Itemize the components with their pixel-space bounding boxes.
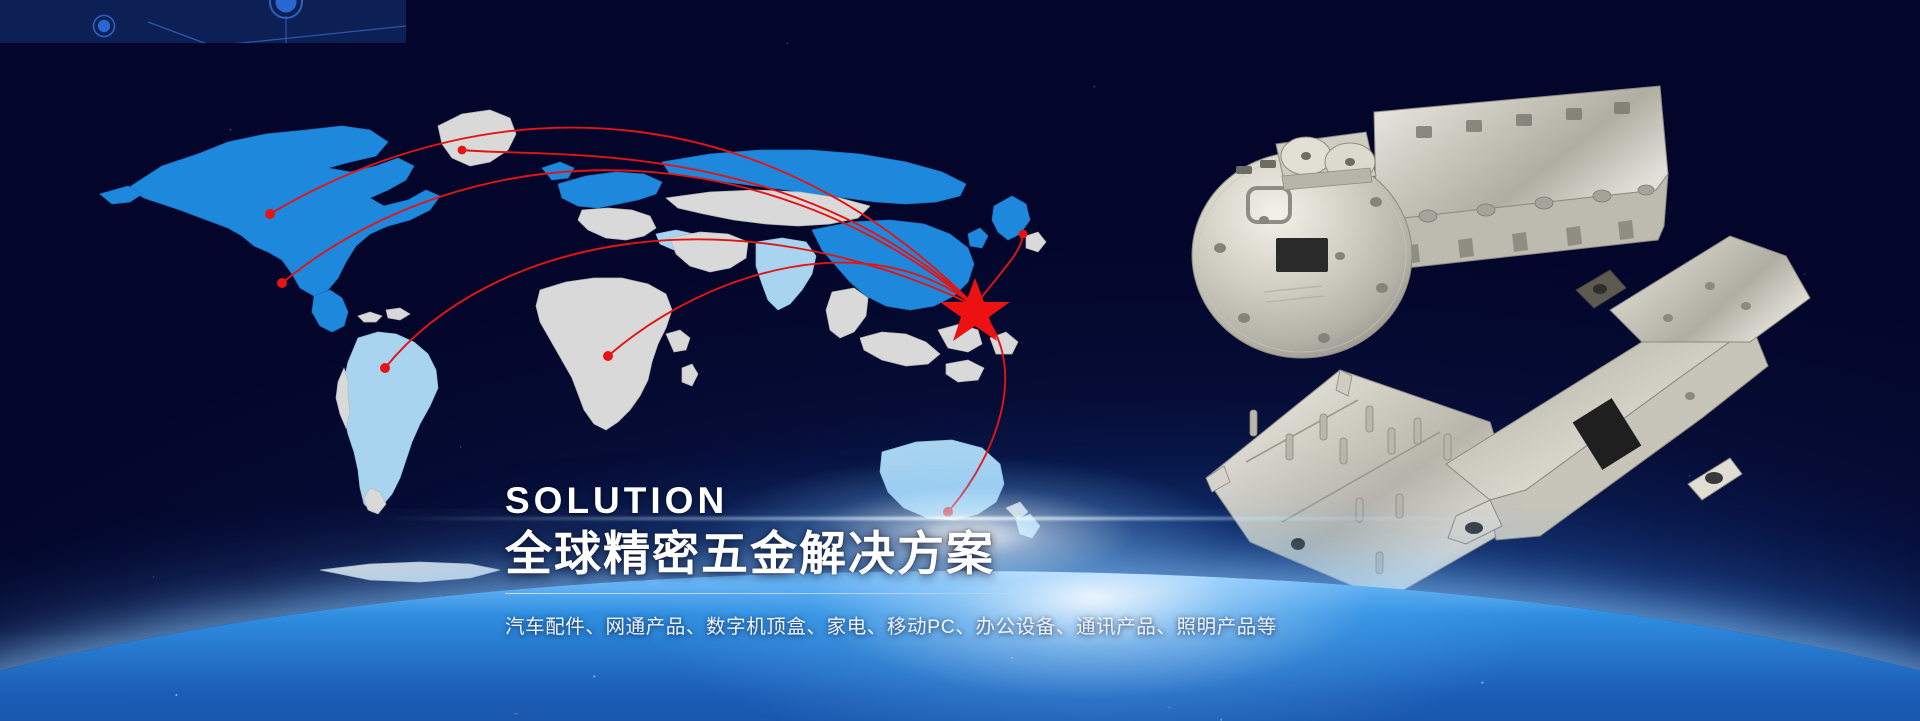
product-category-list: 汽车配件、网通产品、数字机顶盒、家电、移动PC、办公设备、通讯产品、照明产品等 bbox=[505, 610, 1265, 639]
tech-decoration-panel bbox=[0, 0, 406, 43]
metal-parts-svg bbox=[1190, 70, 1920, 600]
tech-panel-graphic bbox=[0, 0, 406, 43]
eyebrow-solution: SOLUTION bbox=[505, 482, 1265, 521]
metal-parts-group bbox=[1190, 70, 1920, 600]
hero-copy-block: SOLUTION 全球精密五金解决方案 汽车配件、网通产品、数字机顶盒、家电、移… bbox=[505, 482, 1265, 639]
solution-hero-banner: .grey { fill:#d9d9d9; stroke:#b9b9b9; st… bbox=[0, 0, 1920, 721]
angle-bracket-assembly bbox=[1446, 236, 1810, 544]
long-bracket-rail bbox=[1374, 86, 1668, 270]
title-divider bbox=[505, 593, 1042, 594]
page-title: 全球精密五金解决方案 bbox=[505, 525, 1265, 582]
